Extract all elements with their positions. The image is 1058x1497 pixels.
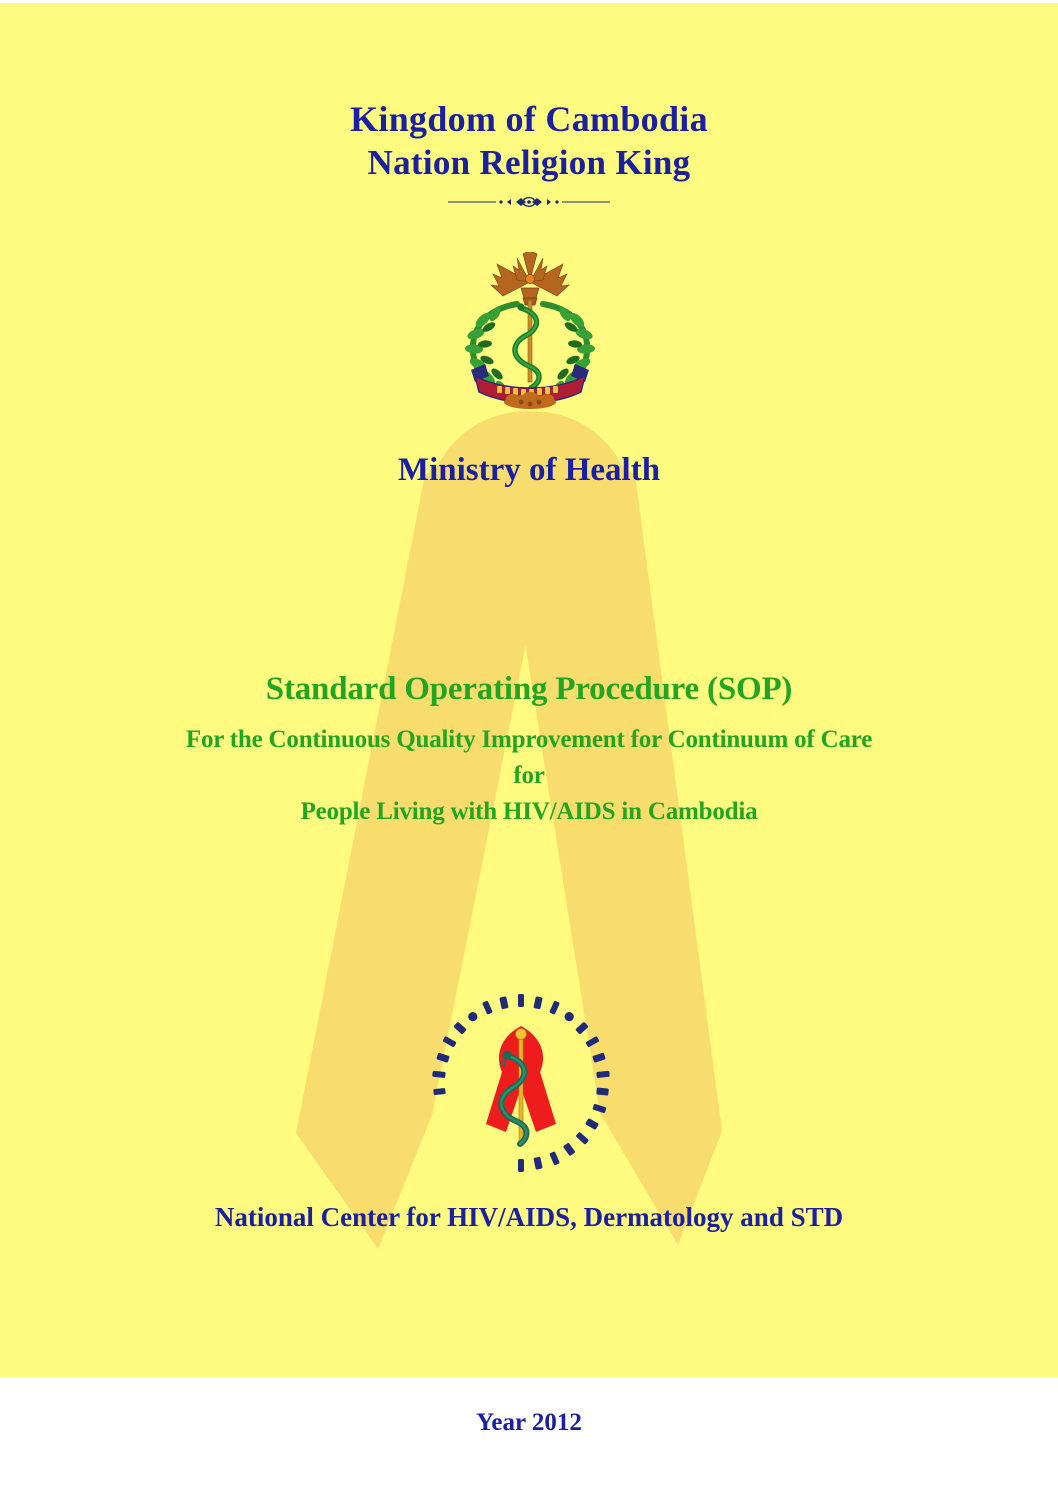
- document-title-block: Standard Operating Procedure (SOP) For t…: [0, 668, 1058, 830]
- cover-page: Kingdom of Cambodia Nation Religion King: [0, 0, 1058, 1497]
- publication-year: Year 2012: [0, 1408, 1058, 1438]
- national-motto: Nation Religion King: [0, 141, 1058, 185]
- ornamental-divider: [0, 194, 1058, 210]
- document-subtitle-line-2: for: [0, 758, 1058, 794]
- kingdom-title: Kingdom of Cambodia: [0, 97, 1058, 141]
- document-subtitle-line-3: People Living with HIV/AIDS in Cambodia: [0, 794, 1058, 830]
- document-subtitle-line-1: For the Continuous Quality Improvement f…: [0, 722, 1058, 758]
- ministry-title: Ministry of Health: [0, 450, 1058, 490]
- document-subtitle: For the Continuous Quality Improvement f…: [0, 722, 1058, 830]
- organisation-name: National Center for HIV/AIDS, Dermatolog…: [0, 1200, 1058, 1234]
- ornamental-divider-icon: [444, 195, 614, 209]
- ministry-emblem-icon: [455, 252, 605, 410]
- ministry-of-health-emblem: [455, 252, 605, 410]
- document-main-title: Standard Operating Procedure (SOP): [0, 668, 1058, 710]
- header-block: Kingdom of Cambodia Nation Religion King: [0, 97, 1058, 210]
- nchads-logo: [424, 992, 618, 1174]
- nchads-logo-icon: [424, 992, 618, 1174]
